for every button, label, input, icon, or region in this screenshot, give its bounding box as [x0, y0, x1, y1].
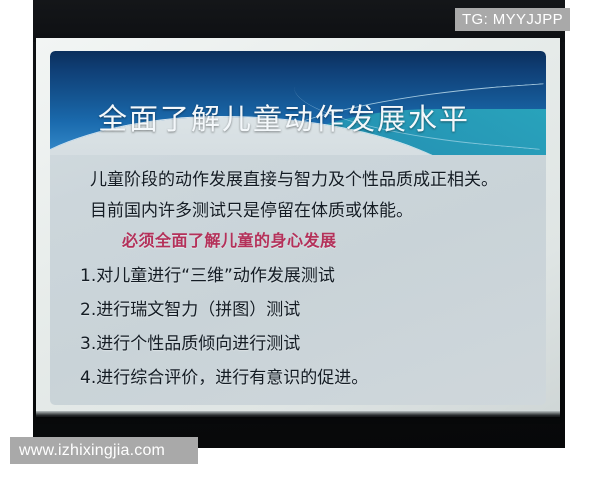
slide-paragraph-2: 目前国内许多测试只是停留在体质或体能。: [90, 196, 413, 221]
slide-title: 全面了解儿童动作发展水平: [98, 96, 470, 138]
slide-header-banner: 全面了解儿童动作发展水平: [50, 51, 546, 155]
slide-list-item-4: 4.进行综合评价，进行有意识的促进。: [80, 363, 368, 388]
screenshot-root: 全面了解儿童动作发展水平 儿童阶段的动作发展直接与智力及个性品质成正相关。 目前…: [0, 0, 600, 480]
presentation-slide: 全面了解儿童动作发展水平 儿童阶段的动作发展直接与智力及个性品质成正相关。 目前…: [50, 51, 546, 405]
watermark-website-badge: www.izhixingjia.com: [10, 437, 198, 464]
slide-highlight-text: 必须全面了解儿童的身心发展: [122, 227, 337, 251]
slide-paragraph-1: 儿童阶段的动作发展直接与智力及个性品质成正相关。: [90, 165, 498, 190]
projection-screen-bottom-edge: [36, 411, 560, 417]
watermark-telegram-badge: TG: MYYJJPP: [455, 8, 570, 31]
slide-list-item-2: 2.进行瑞文智力（拼图）测试: [80, 295, 300, 320]
slide-list-item-3: 3.进行个性品质倾向进行测试: [80, 329, 300, 354]
slide-list-item-1: 1.对儿童进行“三维”动作发展测试: [80, 261, 335, 286]
